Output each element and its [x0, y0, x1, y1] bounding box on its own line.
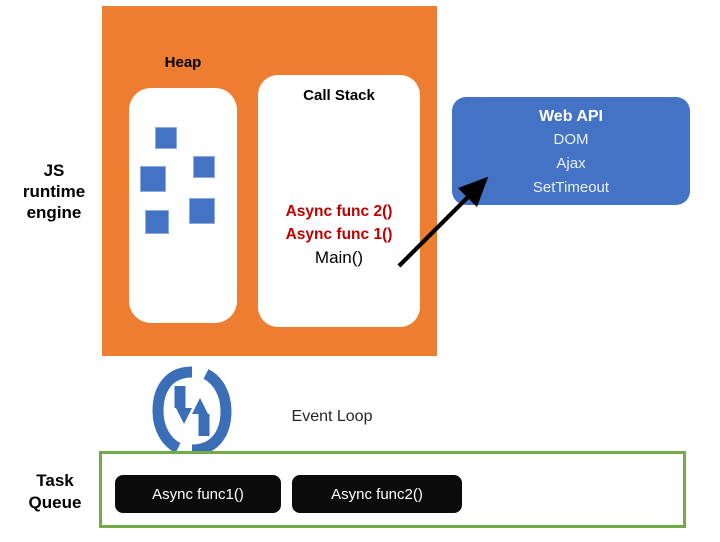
heap-object-2	[140, 166, 166, 192]
heap-title: Heap	[140, 54, 226, 71]
heap-object-3	[193, 156, 215, 178]
web-api-item: Ajax	[452, 152, 690, 176]
js-runtime-engine-label: JS runtime engine	[8, 160, 100, 223]
web-api-item: DOM	[452, 128, 690, 152]
call-stack-frame-list: Async func 2()Async func 1()Main()	[258, 200, 420, 269]
task-queue-item[interactable]: Async func2()	[292, 475, 462, 513]
call-stack-frame: Async func 2()	[258, 200, 420, 223]
heap-container	[129, 88, 237, 323]
heap-object-4	[145, 210, 169, 234]
call-stack-title: Call Stack	[258, 87, 420, 104]
event-loop-label: Event Loop	[262, 408, 402, 426]
heap-object-1	[155, 127, 177, 149]
event-loop-icon	[146, 366, 238, 456]
web-api-item: SetTimeout	[452, 176, 690, 200]
web-api-title: Web API	[452, 106, 690, 128]
heap-object-5	[189, 198, 215, 224]
call-stack-frame: Main()	[258, 246, 420, 269]
task-queue-label: Task Queue	[12, 470, 98, 514]
diagram-canvas: JS runtime engine Heap Call Stack Async …	[0, 0, 720, 542]
web-api-item-list: DOMAjaxSetTimeout	[452, 128, 690, 200]
web-api-container: Web API DOMAjaxSetTimeout	[452, 97, 690, 205]
task-queue-item[interactable]: Async func1()	[115, 475, 281, 513]
call-stack-frame: Async func 1()	[258, 223, 420, 246]
